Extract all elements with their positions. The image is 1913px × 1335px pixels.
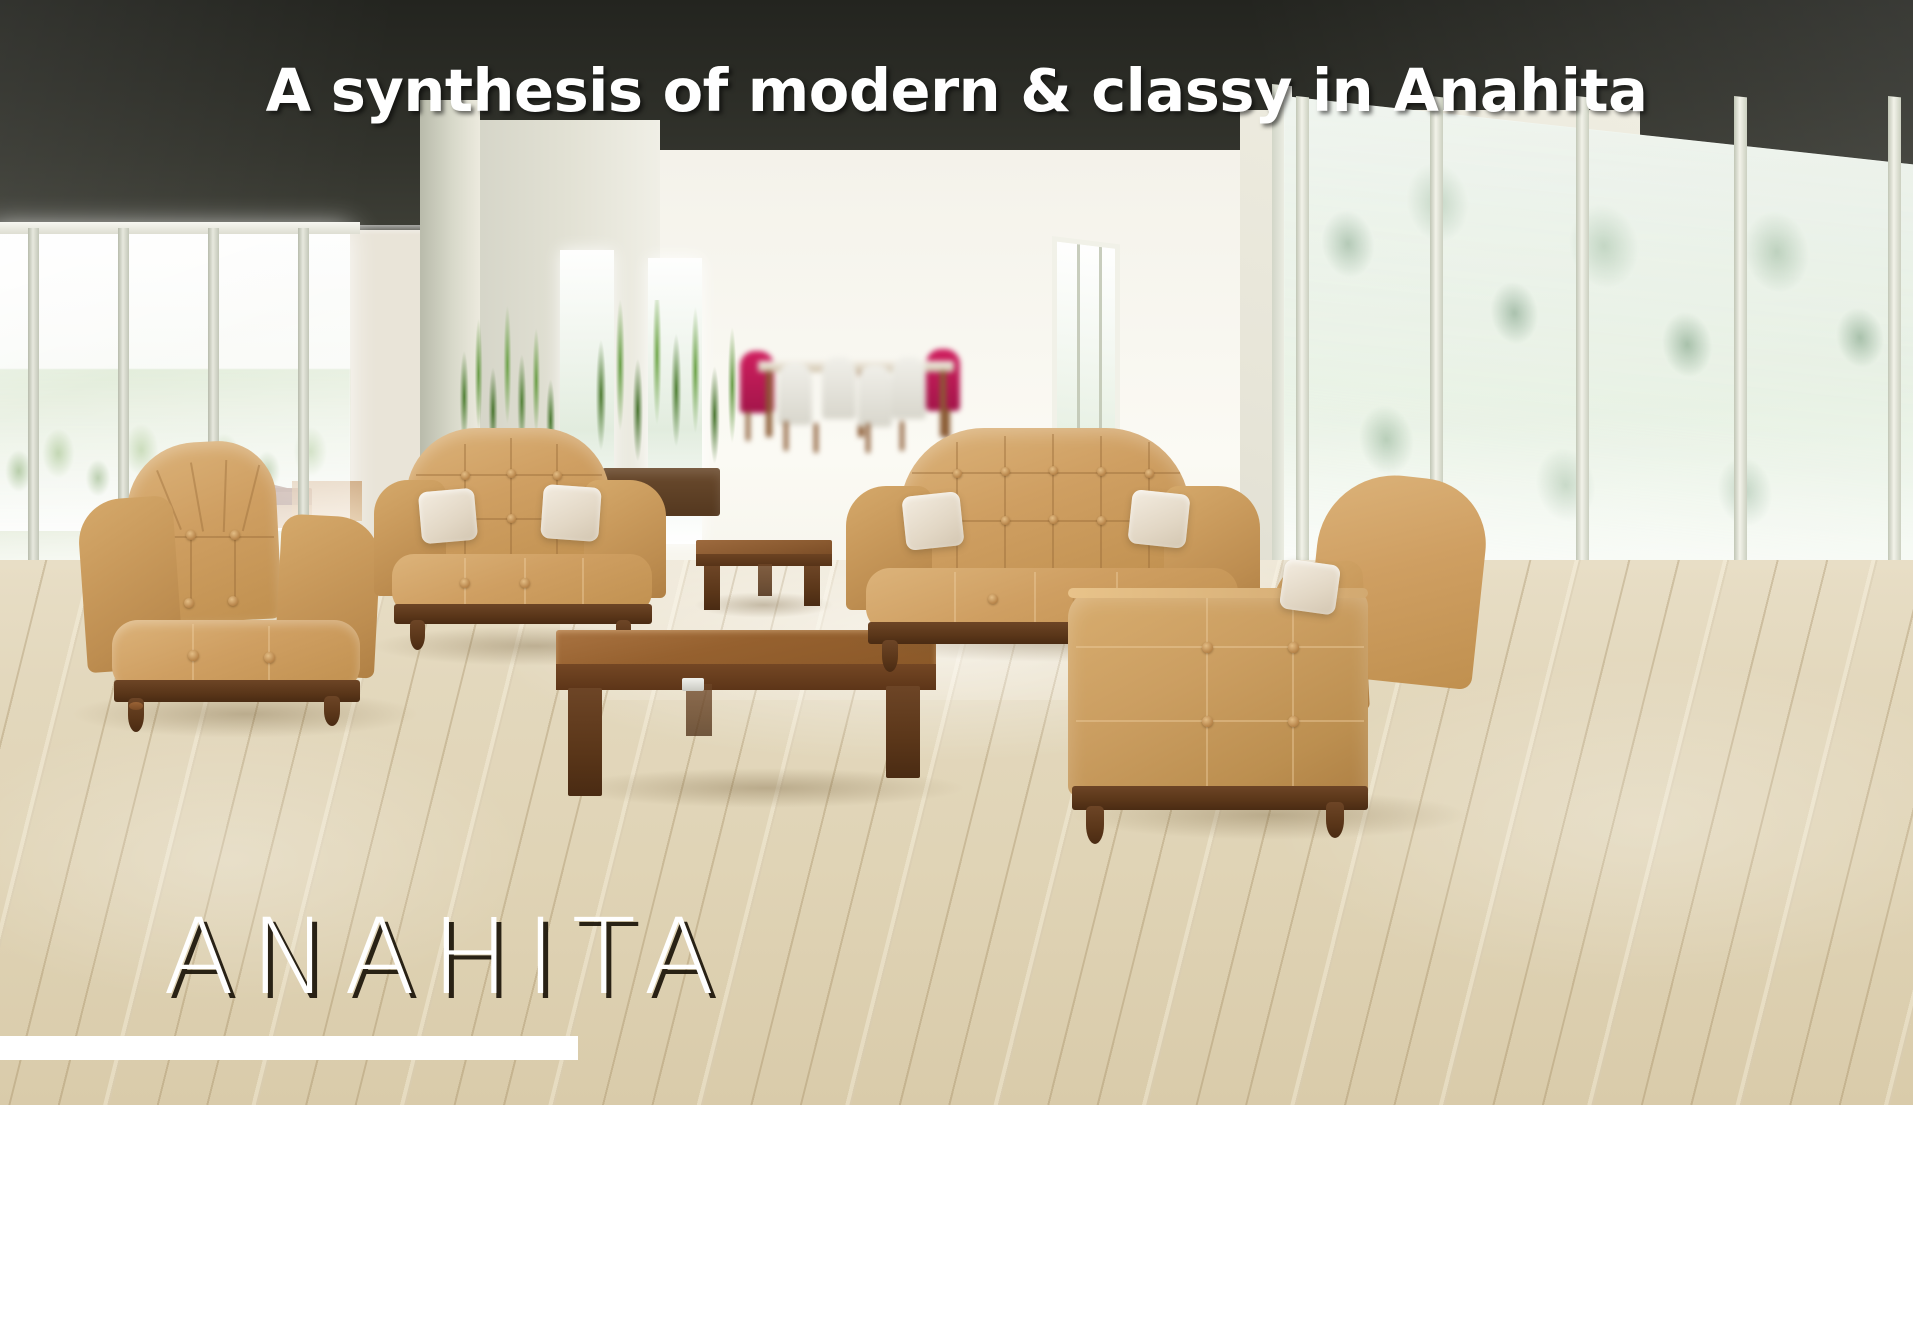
loveseat-pillow-right [540,484,602,542]
armchair-left [72,438,402,728]
dining-chair-white-1 [778,363,812,425]
sofa-pillow-left [901,491,964,551]
dining-chair-white-2 [822,357,856,419]
dining-chair-white-3 [858,365,892,427]
hero-photo: A synthesis of modern & classy in Anahit… [0,0,1913,1105]
coffee-table-label [682,678,704,691]
headline: A synthesis of modern & classy in Anahit… [0,56,1913,125]
loveseat-pillow-left [418,488,478,545]
armchair-right [1056,470,1476,860]
dining-chair-white-4 [892,357,926,419]
left-window-mullion-1 [28,228,39,580]
dining-table-leg-1 [766,371,772,437]
poster: A synthesis of modern & classy in Anahit… [0,0,1913,1335]
armchair-right-pillow [1279,558,1341,615]
side-table [696,540,832,616]
footer: Single: 2Double: 1Triple: 1 MATERIAL:Woo… [0,1105,1913,1335]
brand-logo-underline [0,1036,578,1060]
brand-logo: ANAHITA [163,905,731,1009]
